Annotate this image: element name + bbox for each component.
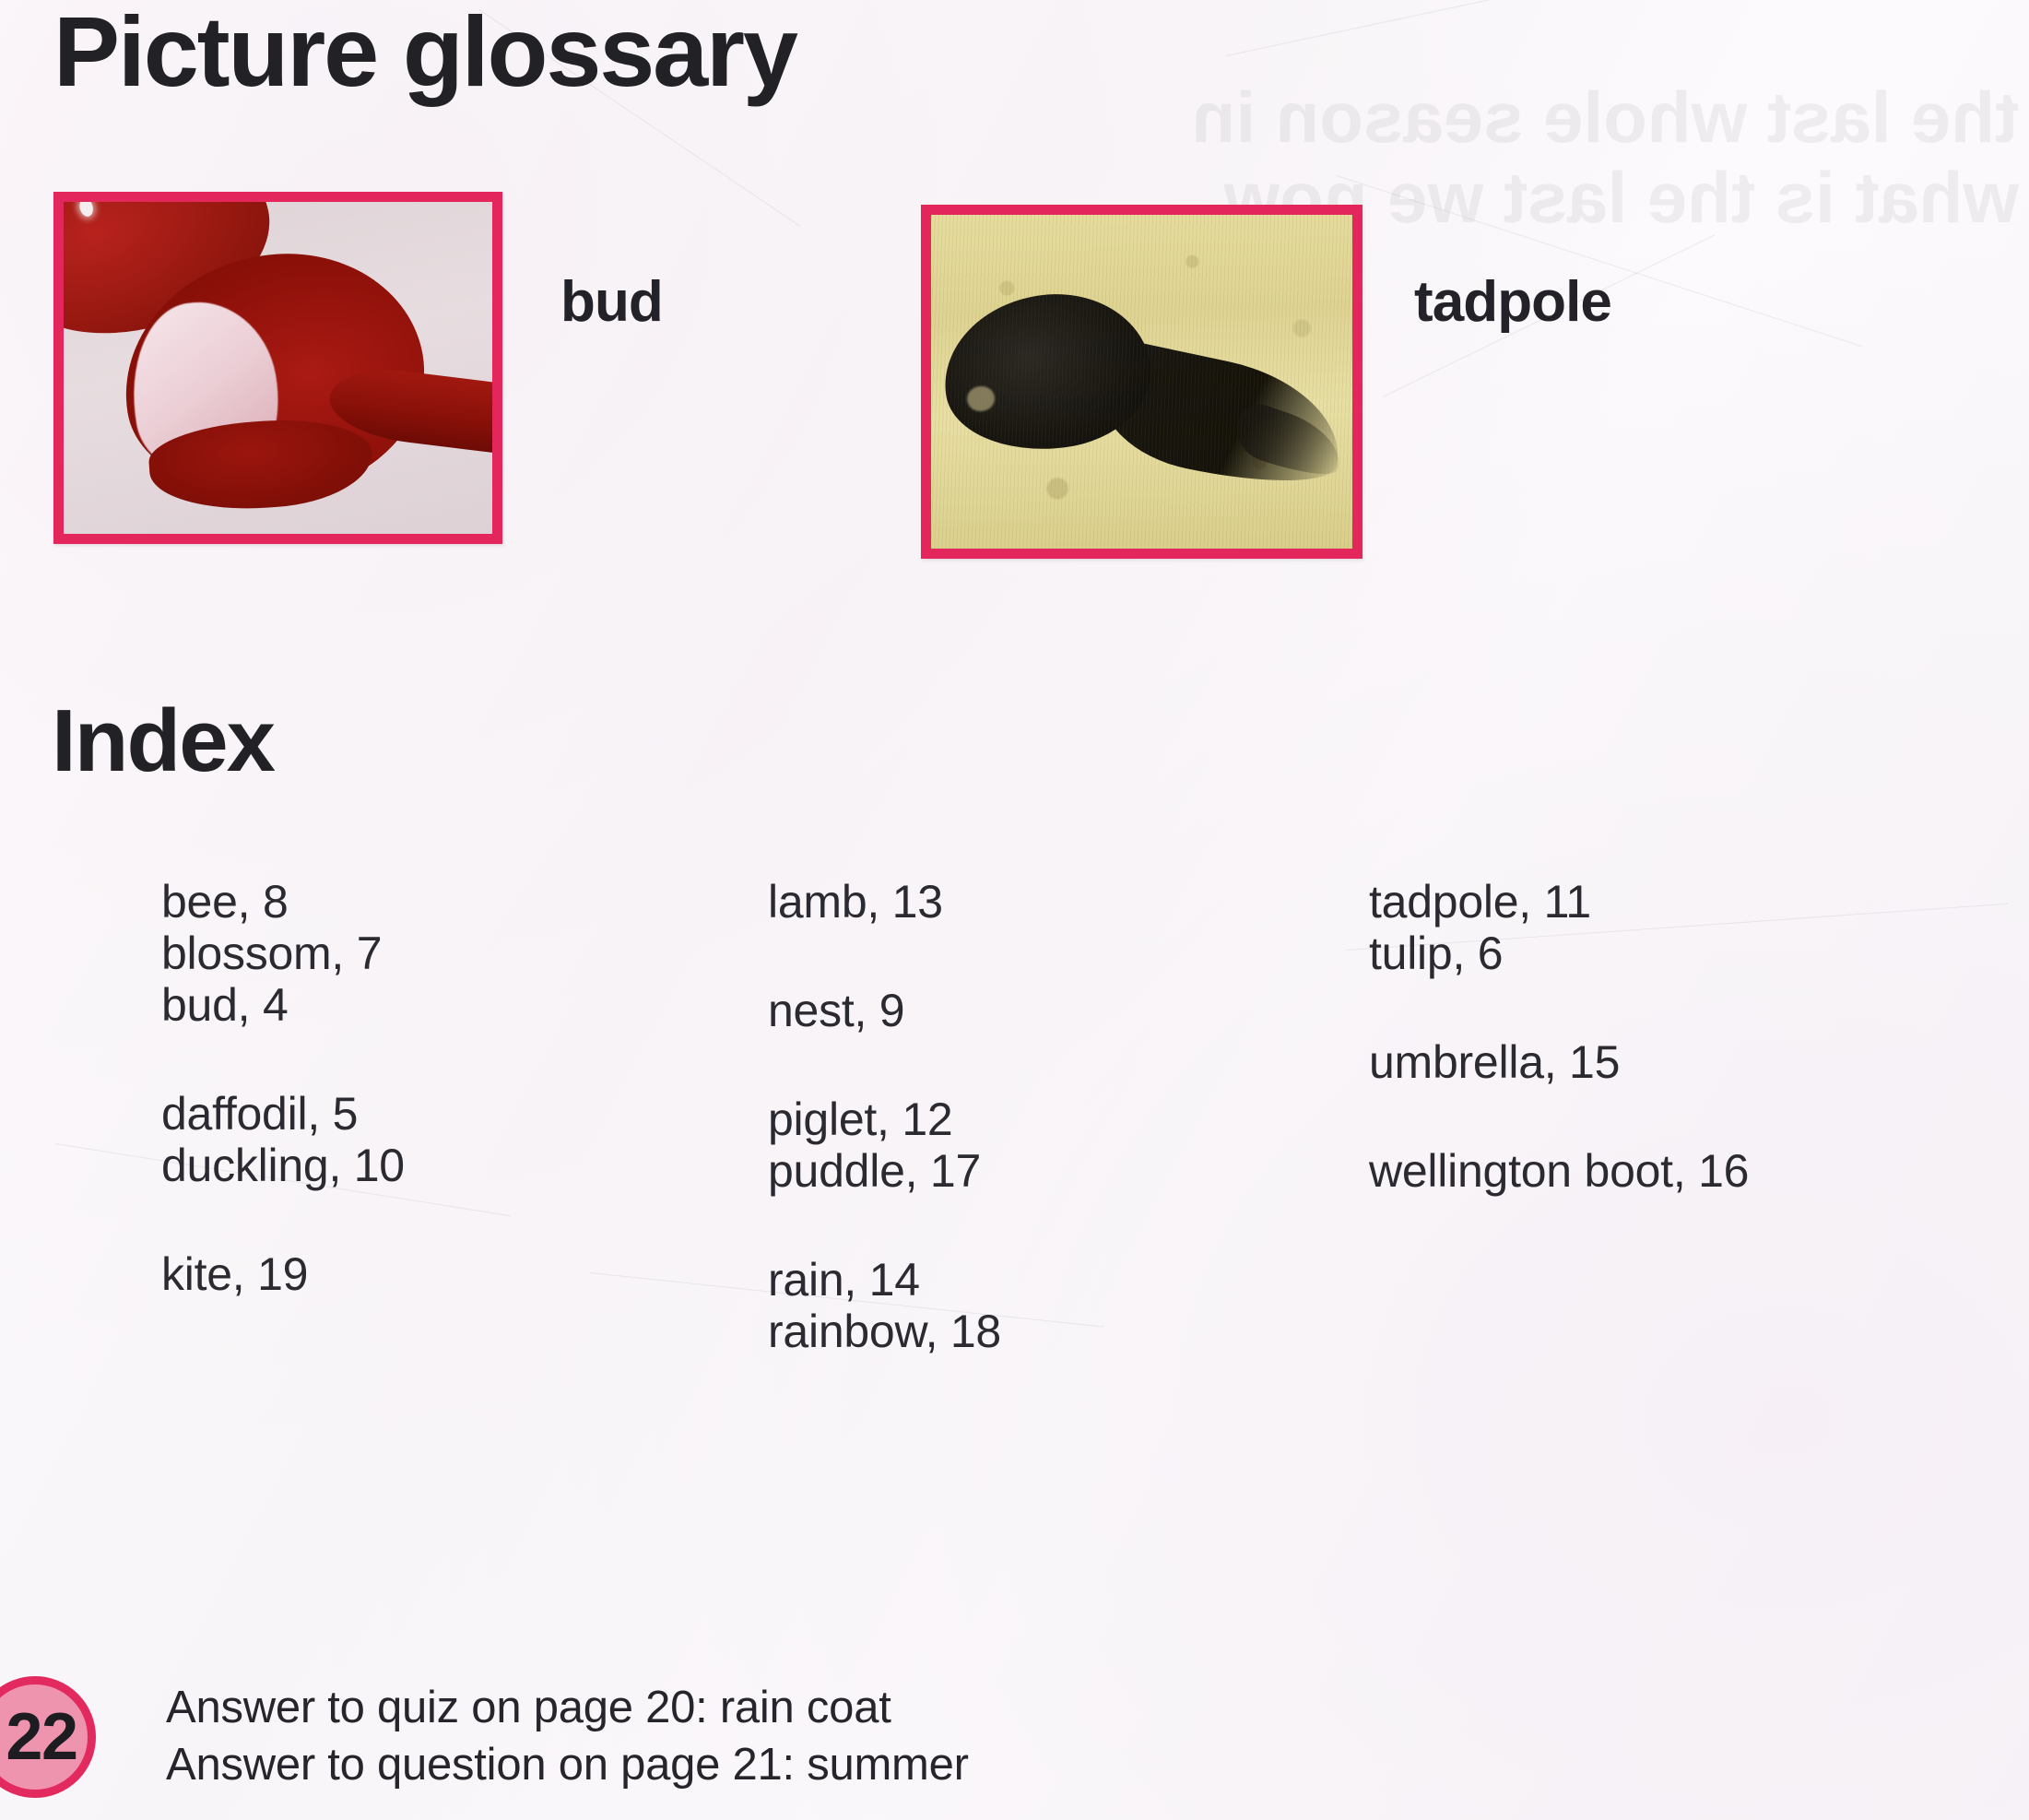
paper-crease — [1226, 0, 1695, 56]
index-entry: tadpole, 11 — [1369, 876, 1749, 928]
index-group: lamb, 13 — [768, 876, 1001, 928]
index-column-3: tadpole, 11tulip, 6umbrella, 15wellingto… — [1369, 876, 1749, 1254]
index-group: rain, 14rainbow, 18 — [768, 1254, 1001, 1357]
tulip-bud-photo — [53, 192, 502, 544]
index-column-2: lamb, 13nest, 9piglet, 12puddle, 17rain,… — [768, 876, 1001, 1414]
index-heading: Index — [52, 697, 274, 786]
tadpole-photo-inner — [931, 215, 1352, 549]
index-entry: kite, 19 — [161, 1248, 405, 1300]
glossary-label-bud: bud — [560, 269, 663, 335]
index-entry: rain, 14 — [768, 1254, 1001, 1306]
index-entry: piglet, 12 — [768, 1093, 1001, 1145]
tadpole-tail-shape — [1091, 337, 1352, 499]
footer-answer-line: Answer to quiz on page 20: rain coat — [166, 1680, 969, 1737]
glossary-label-tadpole: tadpole — [1414, 269, 1611, 335]
tadpole-scene-background — [931, 215, 1352, 549]
index-group: bee, 8blossom, 7bud, 4 — [161, 876, 405, 1031]
index-entry: umbrella, 15 — [1369, 1036, 1749, 1088]
index-entry: bee, 8 — [161, 876, 405, 928]
tadpole-body-shape — [935, 283, 1159, 461]
index-group: wellington boot, 16 — [1369, 1145, 1749, 1197]
book-page: the last whole season in what is the las… — [0, 0, 2029, 1820]
tadpole-photo — [921, 205, 1362, 559]
page-number-text: 22 — [6, 1699, 77, 1775]
index-group: nest, 9 — [768, 985, 1001, 1036]
index-entry: blossom, 7 — [161, 928, 405, 979]
bud-scene-background — [64, 202, 492, 534]
index-entry: nest, 9 — [768, 985, 1001, 1036]
index-entry: daffodil, 5 — [161, 1088, 405, 1140]
page-number-badge: 22 — [0, 1676, 96, 1798]
index-group: kite, 19 — [161, 1248, 405, 1300]
index-group: daffodil, 5duckling, 10 — [161, 1088, 405, 1191]
tadpole-tail-tip-shape — [1229, 398, 1350, 484]
index-entry: duckling, 10 — [161, 1140, 405, 1191]
index-group: tadpole, 11tulip, 6 — [1369, 876, 1749, 979]
index-entry: lamb, 13 — [768, 876, 1001, 928]
picture-glossary-heading: Picture glossary — [53, 2, 796, 101]
footer-answers: Answer to quiz on page 20: rain coatAnsw… — [166, 1680, 969, 1793]
tulip-bud-photo-inner — [64, 202, 492, 534]
index-group: piglet, 12puddle, 17 — [768, 1093, 1001, 1197]
index-entry: puddle, 17 — [768, 1145, 1001, 1197]
footer-answer-line: Answer to question on page 21: summer — [166, 1737, 969, 1794]
index-group: umbrella, 15 — [1369, 1036, 1749, 1088]
index-entry: wellington boot, 16 — [1369, 1145, 1749, 1197]
index-entry: tulip, 6 — [1369, 928, 1749, 979]
index-entry: rainbow, 18 — [768, 1306, 1001, 1357]
index-entry: bud, 4 — [161, 979, 405, 1031]
index-column-1: bee, 8blossom, 7bud, 4daffodil, 5ducklin… — [161, 876, 405, 1357]
